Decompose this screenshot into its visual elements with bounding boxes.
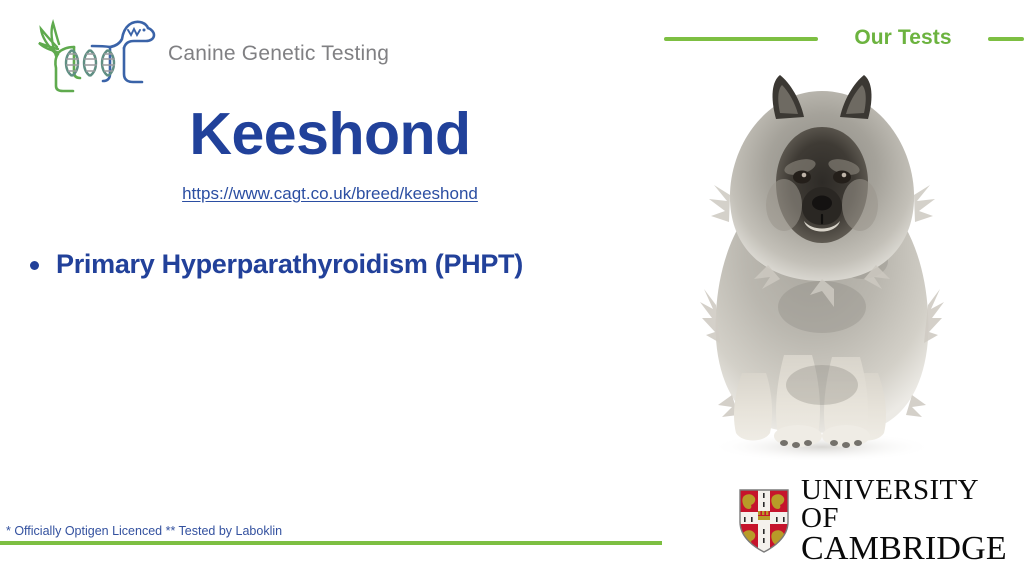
tests-list: Primary Hyperparathyroidism (PHPT): [24, 248, 644, 296]
header-rule-left: [664, 37, 818, 41]
section-label: Our Tests: [830, 26, 976, 50]
bullet-icon: [30, 261, 39, 270]
university-logo: UNIVERSITY OF CAMBRIDGE: [738, 482, 1014, 560]
cambridge-coat-of-arms-icon: [738, 488, 790, 554]
footnote: * Officially Optigen Licenced ** Tested …: [6, 524, 282, 538]
test-name: Primary Hyperparathyroidism (PHPT): [56, 249, 523, 279]
university-wordmark-line2: CAMBRIDGE: [801, 533, 1014, 566]
footer-rule: [0, 541, 662, 545]
dna-dog-logo-icon: [22, 10, 162, 98]
university-wordmark: UNIVERSITY OF CAMBRIDGE: [801, 477, 1014, 565]
page-title: Keeshond: [0, 105, 660, 164]
keeshond-dog-photo-icon: [672, 55, 972, 465]
list-item: Primary Hyperparathyroidism (PHPT): [24, 248, 644, 282]
university-wordmark-line1: UNIVERSITY OF: [801, 477, 1014, 533]
breed-url-link[interactable]: https://www.cagt.co.uk/breed/keeshond: [0, 184, 660, 204]
brand-logo[interactable]: Canine Genetic Testing: [22, 8, 382, 100]
header-rule-right: [988, 37, 1024, 41]
brand-name: Canine Genetic Testing: [168, 42, 389, 66]
slide-canvas: Canine Genetic Testing Our Tests Keeshon…: [0, 0, 1024, 576]
